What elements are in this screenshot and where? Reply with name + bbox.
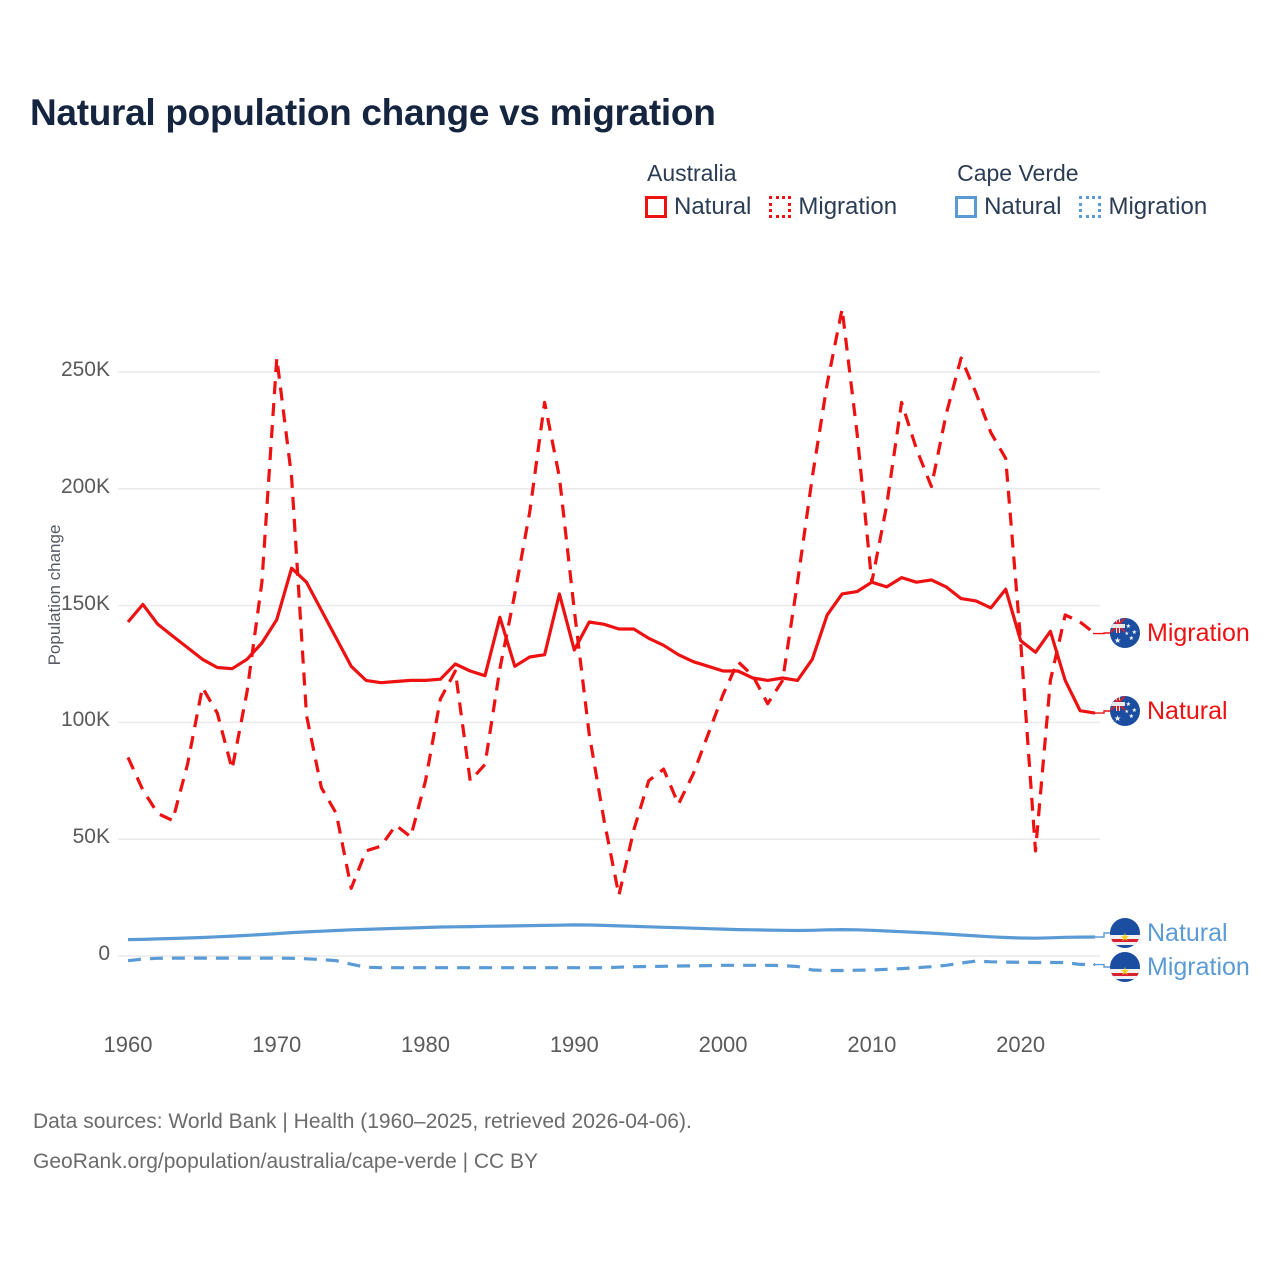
plot-area: Population change 050K100K150K200K250K 1… — [0, 0, 1280, 1280]
end-label-text: Natural — [1147, 697, 1228, 726]
end-label-australia-natural[interactable]: ★★★★★Natural — [1110, 696, 1228, 726]
end-label-cape-verde-migration[interactable]: ★Migration — [1110, 952, 1250, 982]
gridlines — [118, 372, 1100, 956]
x-axis-tick: 1980 — [376, 1032, 476, 1058]
series-line-cape-verde-migration — [128, 958, 1095, 970]
end-label-text: Migration — [1147, 953, 1250, 982]
y-axis-tick: 200K — [0, 475, 110, 499]
series-line-australia-migration — [128, 309, 1095, 895]
y-axis-tick: 100K — [0, 708, 110, 732]
cv-flag-icon: ★ — [1110, 918, 1140, 948]
y-axis-tick: 250K — [0, 358, 110, 382]
x-axis-tick: 2010 — [822, 1032, 922, 1058]
x-axis-tick: 1960 — [78, 1032, 178, 1058]
y-axis-tick: 0 — [0, 942, 110, 966]
plot-svg — [0, 0, 1280, 1280]
end-label-cape-verde-natural[interactable]: ★Natural — [1110, 918, 1228, 948]
x-axis-tick: 2000 — [673, 1032, 773, 1058]
footer-attribution: GeoRank.org/population/australia/cape-ve… — [33, 1150, 538, 1174]
y-axis-tick: 150K — [0, 592, 110, 616]
x-axis-tick: 1970 — [227, 1032, 327, 1058]
end-label-text: Natural — [1147, 919, 1228, 948]
cv-flag-icon: ★ — [1110, 952, 1140, 982]
x-axis-tick: 2020 — [971, 1032, 1071, 1058]
chart-root: Natural population change vs migration A… — [0, 0, 1280, 1280]
footer-data-sources: Data sources: World Bank | Health (1960–… — [33, 1110, 692, 1134]
end-label-australia-migration[interactable]: ★★★★★Migration — [1110, 618, 1250, 648]
y-axis-tick: 50K — [0, 825, 110, 849]
au-flag-icon: ★★★★★ — [1110, 618, 1140, 648]
series-lines — [128, 309, 1095, 971]
leader-lines — [1093, 633, 1112, 967]
end-label-text: Migration — [1147, 619, 1250, 648]
series-line-australia-natural — [128, 568, 1095, 713]
au-flag-icon: ★★★★★ — [1110, 696, 1140, 726]
x-axis-tick: 1990 — [524, 1032, 624, 1058]
series-line-cape-verde-natural — [128, 925, 1095, 940]
